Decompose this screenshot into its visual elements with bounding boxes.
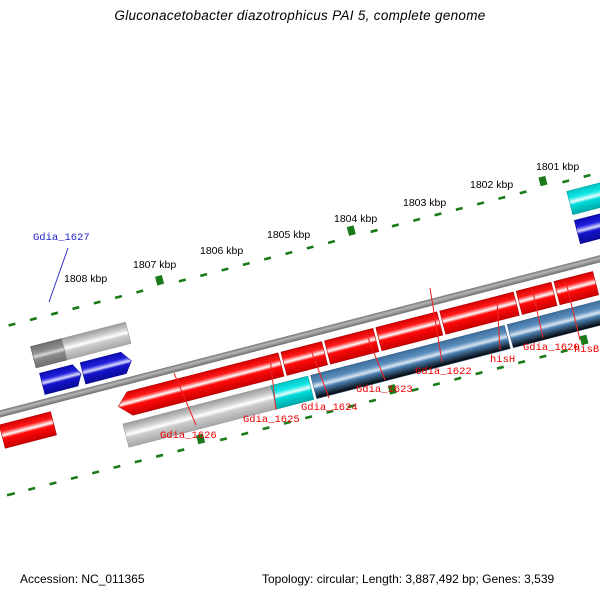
feature-red-gdia-1620[interactable] [554,271,599,304]
feature-cyan-top-right[interactable] [567,173,600,214]
gene-label-gdia-1622[interactable]: Gdia_1622 [415,366,472,378]
gene-label-hisb[interactable]: hisB [574,344,599,356]
kbp-tick-label: 1804 kbp [334,213,377,225]
kbp-tick-label: 1807 kbp [133,259,176,271]
kbp-tick-label: 1806 kbp [200,245,243,257]
genome-map[interactable]: 1801 kbp 1802 kbp 1803 kbp 1804 kbp 1805… [0,0,600,600]
feature-grey-dark[interactable] [31,339,67,368]
feature-red-gdia-1624[interactable] [325,328,379,364]
accession-text: Accession: NC_011365 [20,572,145,586]
gene-label-gdia-1627[interactable]: Gdia_1627 [33,232,90,244]
gene-label-gdia-1620[interactable]: Gdia_1620 [523,342,580,354]
genome-summary-text: Topology: circular; Length: 3,887,492 bp… [262,572,554,586]
kbp-tick-label: 1803 kbp [403,197,446,209]
feature-red-gdia-1625[interactable] [281,342,328,376]
scale-labels: 1801 kbp 1802 kbp 1803 kbp 1804 kbp 1805… [64,161,579,285]
feature-red-left-edge[interactable] [0,412,57,449]
gene-label-gdia-1623[interactable]: Gdia_1623 [356,384,413,396]
gene-label-hish[interactable]: hisH [490,354,515,366]
kbp-tick-label: 1801 kbp [536,161,579,173]
kbp-tick-label: 1805 kbp [267,229,310,241]
gene-label-gdia-1626[interactable]: Gdia_1626 [160,430,217,442]
kbp-tick-label: 1802 kbp [470,179,513,191]
gene-label-gdia-1624[interactable]: Gdia_1624 [301,402,358,414]
feature-blue-arrow-1[interactable] [40,363,84,394]
kbp-tick-label: 1808 kbp [64,273,107,285]
gene-label-gdia-1625[interactable]: Gdia_1625 [243,414,300,426]
